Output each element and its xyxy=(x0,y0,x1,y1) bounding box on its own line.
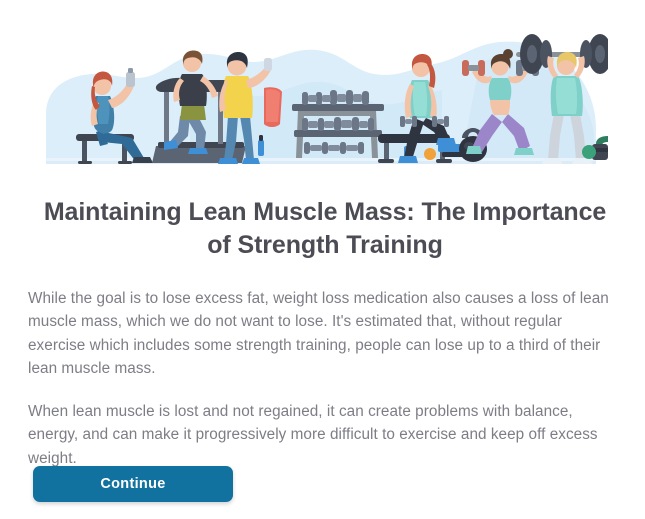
continue-button[interactable]: Continue xyxy=(33,466,233,502)
page-title: Maintaining Lean Muscle Mass: The Import… xyxy=(28,196,622,262)
action-row: Continue xyxy=(33,466,233,502)
article-page: Maintaining Lean Muscle Mass: The Import… xyxy=(0,0,645,519)
article-paragraph-2: When lean muscle is lost and not regaine… xyxy=(28,400,622,470)
article-content: Maintaining Lean Muscle Mass: The Import… xyxy=(28,196,622,470)
gym-scene-svg xyxy=(40,18,608,170)
hero-illustration xyxy=(40,18,608,170)
article-paragraph-1: While the goal is to lose excess fat, we… xyxy=(28,287,622,380)
